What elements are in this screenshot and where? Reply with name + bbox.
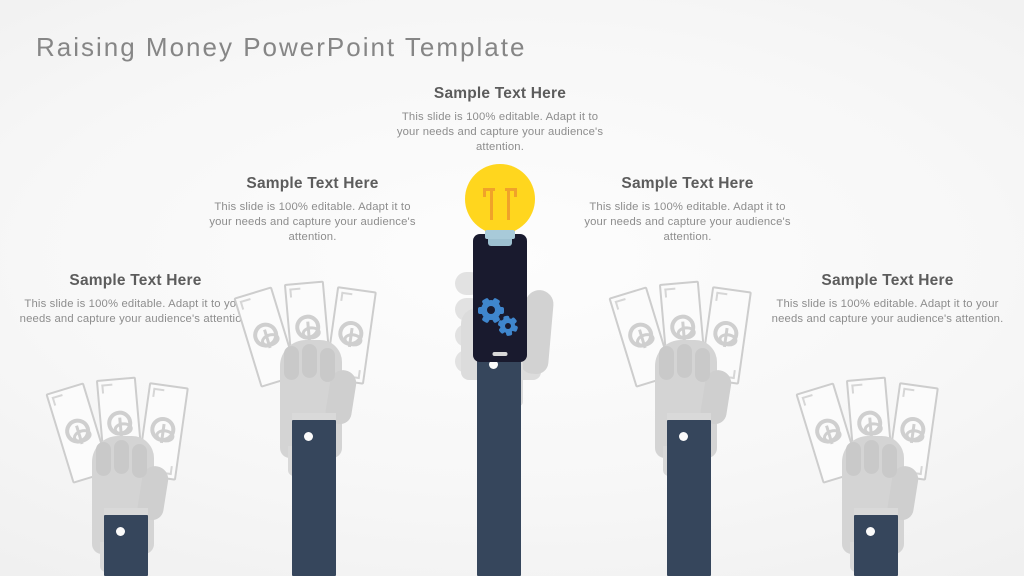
bulb-filament	[514, 188, 517, 197]
sleeve-3	[477, 348, 521, 576]
heading-4: Sample Text Here	[580, 175, 795, 193]
gear-icon	[481, 300, 501, 320]
text-block-2: Sample Text Here This slide is 100% edit…	[205, 175, 420, 245]
text-block-3: Sample Text Here This slide is 100% edit…	[396, 85, 604, 155]
cuff-button	[116, 527, 125, 536]
heading-1: Sample Text Here	[18, 272, 253, 290]
sleeve-5	[854, 515, 898, 576]
knuckle	[864, 440, 879, 474]
knuckle	[302, 344, 317, 378]
sleeve-4	[667, 420, 711, 576]
knuckle	[846, 442, 861, 476]
bulb-cap-lower	[488, 239, 512, 246]
body-4: This slide is 100% editable. Adapt it to…	[580, 200, 795, 245]
sleeve-2	[292, 420, 336, 576]
heading-5: Sample Text Here	[770, 272, 1005, 290]
knuckle	[677, 344, 692, 378]
text-block-4: Sample Text Here This slide is 100% edit…	[580, 175, 795, 245]
bulb-filament	[483, 188, 495, 191]
knuckle	[132, 444, 147, 478]
knuckle	[659, 346, 674, 380]
body-2: This slide is 100% editable. Adapt it to…	[205, 200, 420, 245]
heading-2: Sample Text Here	[205, 175, 420, 193]
cuff-line	[854, 508, 898, 515]
body-1: This slide is 100% editable. Adapt it to…	[18, 297, 253, 327]
knuckle	[114, 440, 129, 474]
heading-3: Sample Text Here	[396, 85, 604, 103]
page-title: Raising Money PowerPoint Template	[36, 32, 526, 63]
knuckle	[284, 346, 299, 380]
slide-canvas: Raising Money PowerPoint Template Sample…	[0, 0, 1024, 576]
knuckle	[882, 444, 897, 478]
phone-home-button	[493, 352, 508, 356]
lightbulb-icon	[461, 164, 539, 260]
bulb-cap	[485, 230, 515, 239]
knuckle	[320, 348, 335, 382]
cuff-button	[304, 432, 313, 441]
gear-icon	[500, 318, 515, 333]
cuff-line	[292, 413, 336, 420]
body-3: This slide is 100% editable. Adapt it to…	[396, 110, 604, 155]
knuckle	[96, 442, 111, 476]
cuff-line	[104, 508, 148, 515]
cuff-button	[866, 527, 875, 536]
text-block-5: Sample Text Here This slide is 100% edit…	[770, 272, 1005, 327]
body-5: This slide is 100% editable. Adapt it to…	[770, 297, 1005, 327]
text-block-1: Sample Text Here This slide is 100% edit…	[18, 272, 253, 327]
sleeve-1	[104, 515, 148, 576]
cuff-line	[667, 413, 711, 420]
knuckle	[695, 348, 710, 382]
cuff-button	[679, 432, 688, 441]
